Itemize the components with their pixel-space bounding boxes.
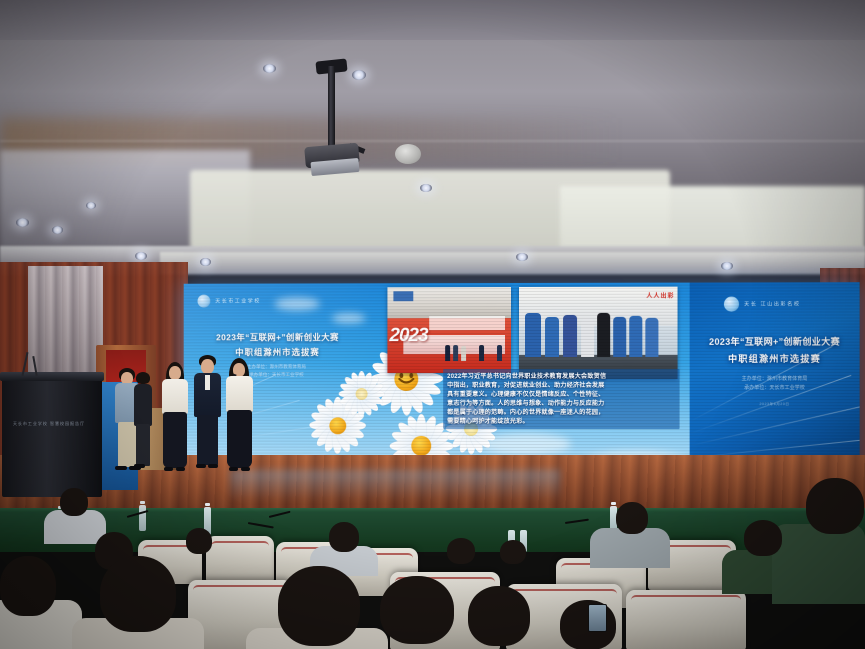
- podium: [2, 375, 102, 497]
- led-video-wall: 天长市工业学校 2023年“互联网+”创新创业大赛 中职组滁州市选拔赛 主办单位…: [184, 282, 860, 482]
- attendee-head-foreground: [278, 566, 360, 646]
- ceiling-soffit-inner: [160, 252, 865, 274]
- shoe: [196, 464, 206, 468]
- head: [169, 366, 181, 380]
- head: [201, 359, 214, 374]
- bottle-cap: [205, 503, 210, 506]
- bottle-cap: [140, 501, 145, 504]
- podium-top: [0, 372, 104, 381]
- attendee-head-foreground: [0, 556, 56, 616]
- recessed-downlight-icon: [352, 70, 366, 80]
- seat: [206, 536, 274, 582]
- ceiling-seam: [0, 140, 865, 142]
- recessed-downlight-icon: [721, 262, 733, 270]
- attendee-head: [60, 488, 88, 516]
- attendee-head: [500, 540, 526, 564]
- podium-label: 天长市工业学校 智慧校园报告厅: [12, 420, 86, 427]
- attendee-shoulders: [590, 528, 670, 568]
- attendee-head: [447, 538, 475, 564]
- projector-pole: [328, 66, 335, 150]
- attendee-head: [616, 502, 648, 534]
- smoke-detector-icon: [395, 144, 421, 164]
- shoe: [229, 467, 238, 471]
- recessed-downlight-icon: [86, 202, 96, 209]
- recessed-downlight-icon: [52, 226, 63, 234]
- long-skirt: [163, 412, 187, 468]
- recessed-downlight-icon: [516, 253, 528, 261]
- ceiling: [0, 0, 865, 270]
- shoe: [241, 467, 250, 471]
- torso: [134, 384, 152, 426]
- shoe: [208, 464, 218, 468]
- legs: [118, 422, 137, 467]
- shoe: [164, 467, 173, 471]
- legs: [136, 424, 150, 466]
- attendee-head-foreground: [380, 576, 454, 644]
- shoe: [176, 467, 185, 471]
- hair: [136, 372, 150, 384]
- torso-white-blouse: [226, 376, 253, 412]
- conference-hall-photo: 天长市工业学校 2023年“互联网+”创新创业大赛 中职组滁州市选拔赛 主办单位…: [0, 0, 865, 649]
- attendee-shoulders-green: [772, 524, 865, 604]
- attendee-head: [186, 528, 212, 554]
- trousers: [197, 415, 218, 465]
- bottle-cap: [611, 502, 616, 505]
- shoe: [115, 466, 127, 470]
- attendee-head-foreground: [100, 556, 176, 632]
- shirt-collar: [205, 375, 210, 390]
- attendee-head-foreground: [806, 478, 864, 534]
- water-bottle: [139, 505, 146, 531]
- shoe: [134, 464, 145, 468]
- recessed-downlight-icon: [200, 258, 211, 266]
- recessed-downlight-icon: [420, 184, 432, 192]
- attendee-head: [329, 522, 359, 552]
- ceiling-band: [0, 0, 865, 40]
- attendee-phone-screen: [588, 604, 607, 632]
- stage-screen-reflection: [230, 470, 560, 500]
- recessed-downlight-icon: [16, 218, 29, 227]
- recessed-downlight-icon: [263, 64, 276, 73]
- led-screen-gloss: [184, 282, 860, 482]
- torso-white-blouse: [162, 379, 188, 414]
- seat: [626, 590, 746, 649]
- attendee-head-foreground: [468, 586, 530, 646]
- recessed-downlight-icon: [135, 252, 147, 260]
- long-skirt: [227, 410, 252, 468]
- attendee-head: [744, 520, 782, 556]
